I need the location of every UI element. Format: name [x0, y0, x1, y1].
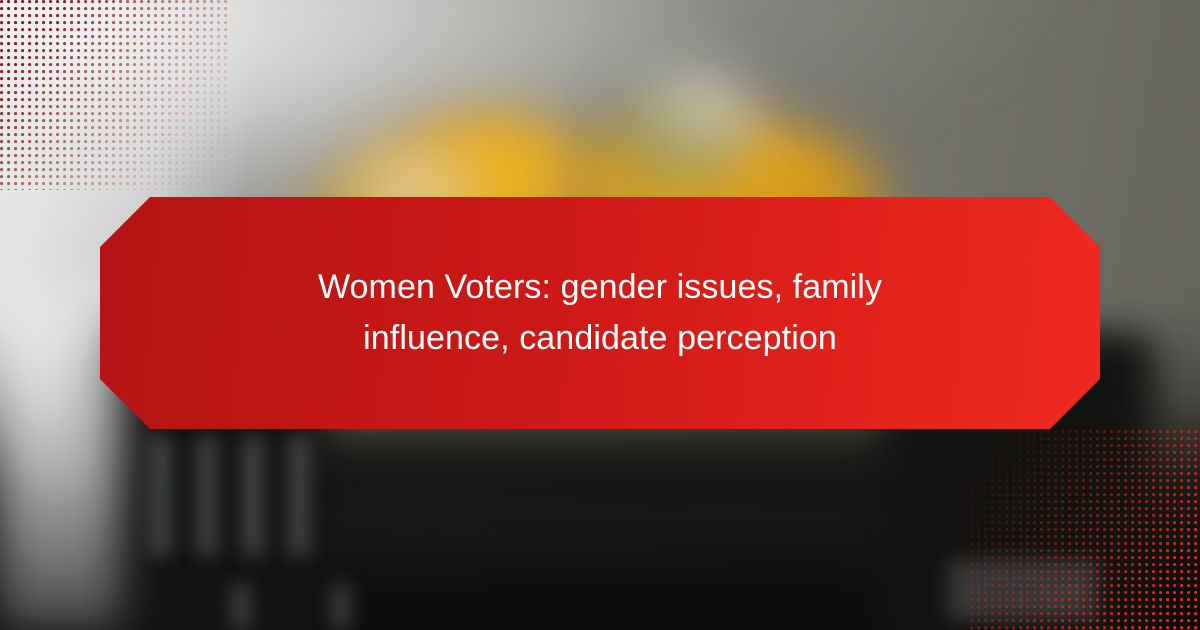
title-banner: Women Voters: gender issues, family infl…: [100, 197, 1100, 429]
halftone-dots-top-left-icon: [0, 0, 230, 190]
social-card: Women Voters: gender issues, family infl…: [0, 0, 1200, 630]
chair-slat: [332, 584, 350, 630]
foliage-blob: [620, 92, 690, 202]
chair-slat: [242, 436, 264, 556]
chair-slat: [150, 436, 172, 556]
halftone-dots-bottom-right-icon: [970, 430, 1200, 630]
page-title: Women Voters: gender issues, family infl…: [270, 262, 930, 364]
chair-slat: [232, 584, 250, 630]
chair-slat: [196, 436, 218, 556]
chair-slat: [288, 436, 310, 556]
foliage-blob: [688, 112, 738, 202]
